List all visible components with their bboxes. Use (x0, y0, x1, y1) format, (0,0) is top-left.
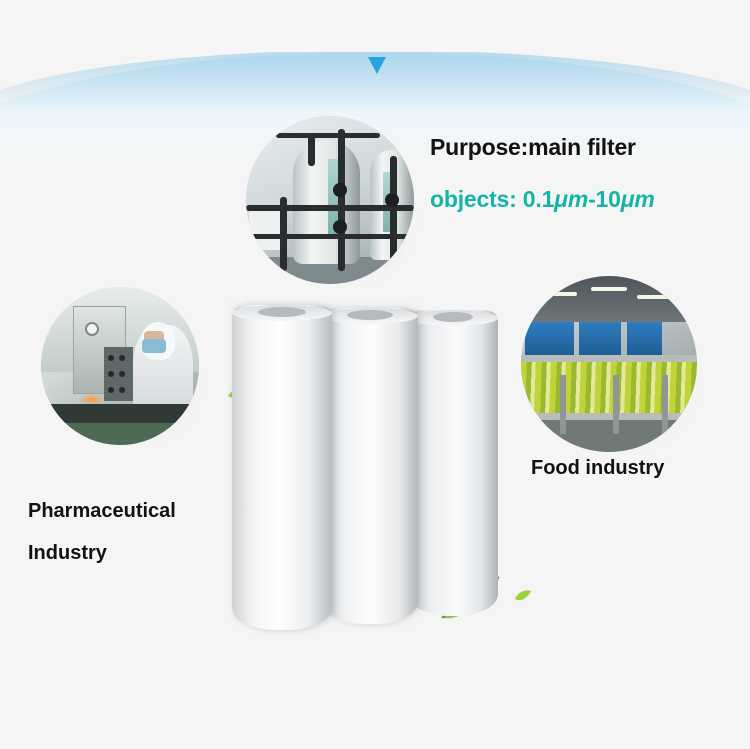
conveyor-rail-lower (521, 413, 697, 420)
filter-roll-middle (322, 308, 418, 624)
conveyor-rail-upper (521, 355, 697, 362)
filler-machine-2 (579, 322, 621, 357)
filler-machine-1 (525, 322, 574, 357)
pipe-vertical-center (338, 129, 345, 270)
purpose-label: Purpose:main filter (430, 134, 636, 161)
objects-max-value: 10 (596, 186, 621, 212)
filter-roll-left-core (258, 307, 306, 317)
product-filter-rolls (232, 305, 488, 630)
rail-post-3 (662, 375, 668, 435)
pharmaceutical-label-line2: Industry (28, 532, 176, 574)
pipe-vertical-left (280, 197, 287, 271)
rail-post-1 (560, 375, 566, 435)
ceiling-light-3 (637, 295, 683, 299)
filler-machine-3 (627, 322, 662, 357)
control-knob-3 (108, 371, 114, 377)
filter-roll-right (408, 310, 498, 616)
control-knob-5 (108, 387, 114, 393)
pipe-horizontal-lower (246, 234, 414, 239)
filter-roll-right-core (433, 312, 473, 322)
pressure-gauge-icon (85, 322, 99, 336)
leaf-icon-9 (514, 589, 532, 602)
filter-roll-middle-core (347, 310, 393, 320)
control-knob-2 (119, 355, 125, 361)
food-industry-label: Food industry (531, 457, 664, 480)
face-mask-icon (142, 339, 166, 353)
filter-roll-left (232, 305, 332, 630)
objects-label: objects: 0.1μm-10μm (430, 186, 655, 213)
objects-dash: - (588, 186, 595, 212)
pharmaceutical-label: Pharmaceutical Industry (28, 490, 176, 574)
objects-min-unit: μm (554, 186, 588, 212)
control-knob-1 (108, 355, 114, 361)
pipe-vertical-riser (308, 136, 315, 166)
control-knob-6 (119, 387, 125, 393)
photo-water-treatment (246, 116, 414, 284)
factory-floor (521, 420, 697, 452)
water-treatment-illustration (246, 116, 414, 284)
work-bench (41, 404, 199, 423)
down-triangle-icon (368, 57, 386, 74)
pharmaceutical-label-line1: Pharmaceutical (28, 490, 176, 532)
ceiling-light-1 (535, 292, 577, 296)
pipe-horizontal-upper (276, 133, 380, 138)
food-line-illustration (521, 276, 697, 452)
objects-min-value: 0.1 (523, 186, 554, 212)
pharmaceutical-illustration (41, 287, 199, 445)
bottle-conveyor-bottles (521, 357, 697, 420)
photo-food-industry (521, 276, 697, 452)
rail-post-2 (613, 375, 619, 435)
control-panel (104, 347, 132, 401)
pipe-vertical-right (390, 156, 397, 264)
ceiling-light-2 (591, 287, 626, 291)
bench-base (41, 423, 199, 445)
objects-max-unit: μm (621, 186, 655, 212)
control-knob-4 (119, 371, 125, 377)
header-band-mask (0, 0, 750, 52)
photo-pharmaceutical (41, 287, 199, 445)
objects-prefix: objects: (430, 186, 523, 212)
filter-tank-primary (293, 140, 360, 264)
